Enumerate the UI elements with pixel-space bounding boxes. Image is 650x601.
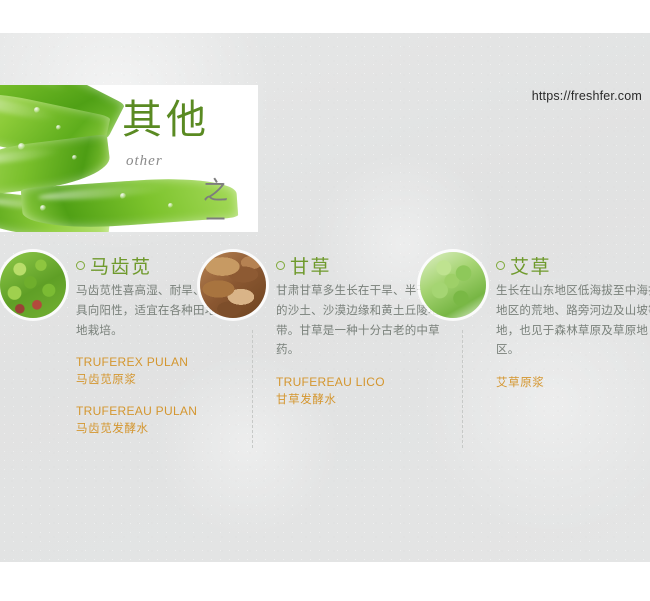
ingredient-heading: 艾草 — [496, 252, 650, 278]
product-entry: TRUFEREAU LICO 甘草发酵水 — [276, 374, 448, 408]
product-name-en: TRUFEREAU LICO — [276, 374, 448, 390]
product-name-en: TRUFEREX PULAN — [76, 354, 248, 370]
product-name-cn: 艾草原浆 — [496, 374, 650, 391]
product-name-cn: 马齿苋发酵水 — [76, 420, 248, 437]
ingredient-body: 艾草 生长在山东地区低海拔至中海拔地区的荒地、路旁河边及山坡等地，也见于森林草原… — [496, 252, 650, 391]
licorice-root-photo-thumb — [200, 252, 266, 318]
product-entry: TRUFEREX PULAN 马齿苋原浆 — [76, 354, 248, 388]
hero-subtitle-chinese: 之二 — [203, 171, 258, 232]
hero-text-block: 其他 other 之二 — [0, 85, 258, 232]
hero-card: 其他 other 之二 — [0, 85, 258, 232]
mugwort-photo-thumb — [420, 252, 486, 318]
ingredient-title: 马齿苋 — [90, 252, 152, 279]
ingredient-title: 甘草 — [290, 252, 331, 279]
ingredient-title: 艾草 — [510, 252, 551, 279]
hero-title-chinese: 其他 — [122, 100, 210, 140]
ring-bullet-icon — [496, 261, 505, 270]
purslane-photo-thumb — [0, 252, 66, 318]
product-entry: 艾草原浆 — [496, 374, 650, 391]
ring-bullet-icon — [276, 261, 285, 270]
hero-title-english: other — [126, 153, 163, 170]
ring-bullet-icon — [76, 261, 85, 270]
ingredient-description: 生长在山东地区低海拔至中海拔地区的荒地、路旁河边及山坡等地，也见于森林草原及草原… — [496, 281, 650, 360]
product-name-en: TRUFEREAU PULAN — [76, 403, 248, 419]
product-name-cn: 马齿苋原浆 — [76, 371, 248, 388]
website-url[interactable]: https://freshfer.com — [532, 89, 642, 103]
ingredient-columns: 马齿苋 马齿苋性喜高湿、耐旱、耐涝，具向阳性，适宜在各种田地和坡地栽培。 TRU… — [0, 252, 650, 482]
product-name-cn: 甘草发酵水 — [276, 391, 448, 408]
slide-page: https://freshfer.com 其他 other 之二 — [0, 0, 650, 601]
product-entry: TRUFEREAU PULAN 马齿苋发酵水 — [76, 403, 248, 437]
